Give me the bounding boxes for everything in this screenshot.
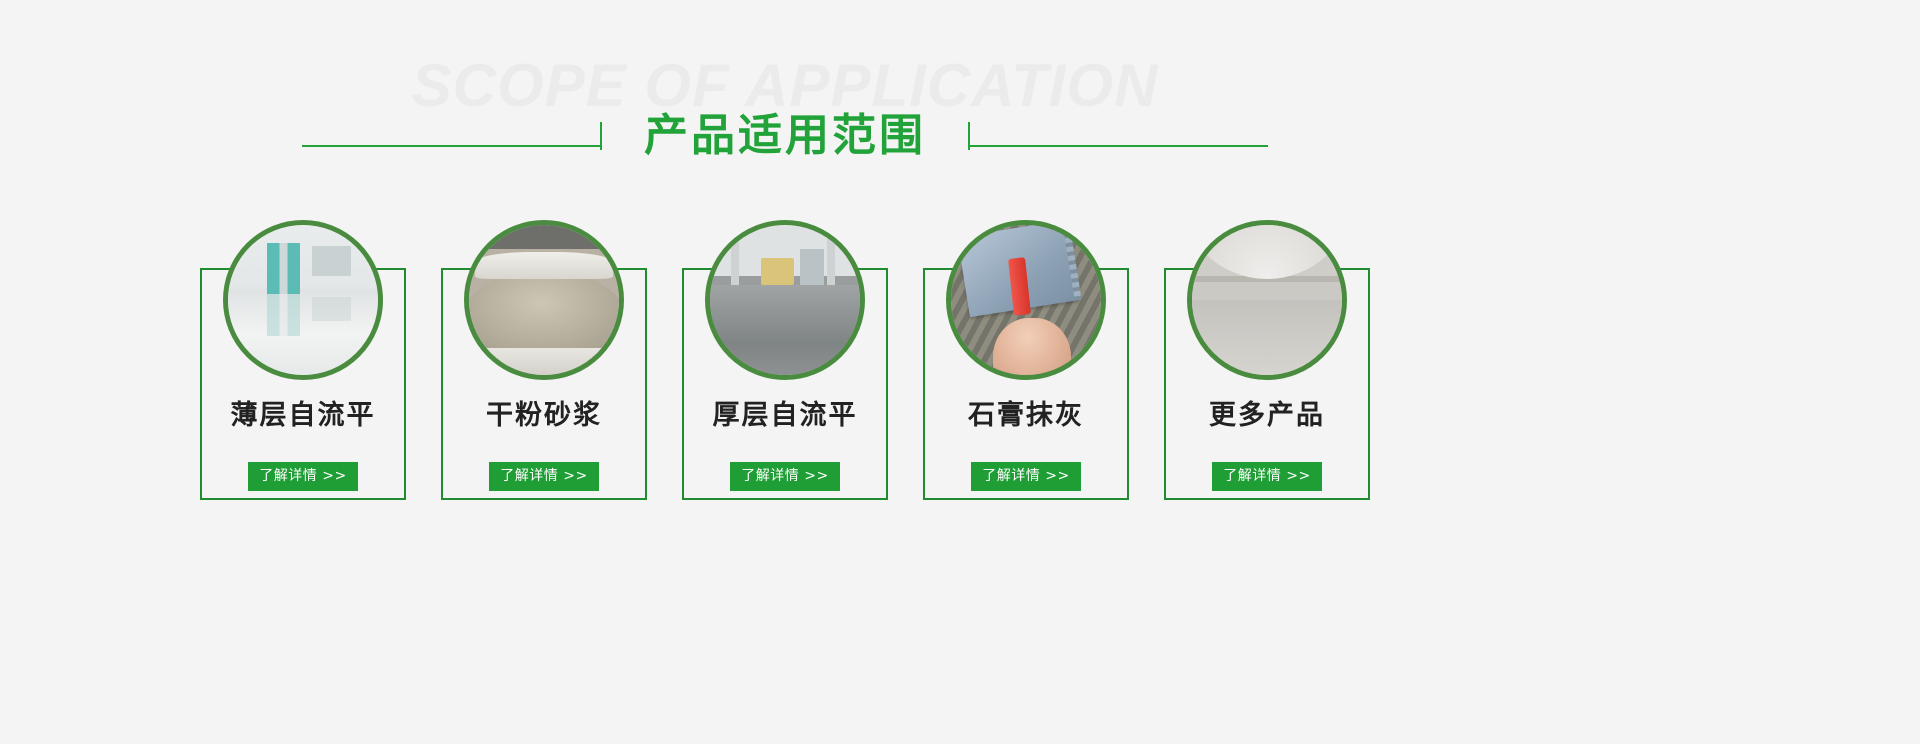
section-title-row: 产品适用范围	[0, 104, 1570, 168]
learn-more-button[interactable]: 了解详情 >>	[730, 462, 839, 491]
title-rule-right	[968, 122, 1268, 150]
thin-layer-self-levelling-floor-photo	[228, 225, 378, 375]
dry-mix-mortar-photo	[469, 225, 619, 375]
product-card-label: 更多产品	[1164, 402, 1370, 429]
product-image-circle[interactable]	[705, 220, 865, 380]
section-header: SCOPE OF APPLICATION 产品适用范围	[0, 0, 1920, 200]
title-rule-left	[302, 122, 602, 150]
product-card[interactable]: 薄层自流平 了解详情 >>	[200, 220, 406, 520]
card-button-wrap: 了解详情 >>	[923, 462, 1129, 491]
title-rule-right-line	[968, 145, 1268, 147]
gypsum-plastering-trowel-photo	[951, 225, 1101, 375]
product-card-label: 厚层自流平	[682, 402, 888, 429]
more-products-photo	[1192, 225, 1342, 375]
product-card[interactable]: 石膏抹灰 了解详情 >>	[923, 220, 1129, 520]
product-card[interactable]: 厚层自流平 了解详情 >>	[682, 220, 888, 520]
card-button-wrap: 了解详情 >>	[682, 462, 888, 491]
card-button-wrap: 了解详情 >>	[441, 462, 647, 491]
title-rule-left-tick	[600, 122, 602, 150]
product-image-circle[interactable]	[946, 220, 1106, 380]
card-frame-bottom-edge	[1164, 498, 1370, 500]
card-frame-bottom-edge	[441, 498, 647, 500]
title-rule-left-line	[302, 145, 602, 147]
page-title: 产品适用范围	[602, 114, 968, 158]
card-frame-bottom-edge	[923, 498, 1129, 500]
product-image-circle[interactable]	[223, 220, 383, 380]
learn-more-button[interactable]: 了解详情 >>	[971, 462, 1080, 491]
learn-more-button[interactable]: 了解详情 >>	[248, 462, 357, 491]
card-button-wrap: 了解详情 >>	[1164, 462, 1370, 491]
scope-of-application-section: SCOPE OF APPLICATION 产品适用范围	[0, 0, 1920, 744]
product-card-label: 石膏抹灰	[923, 402, 1129, 429]
thick-layer-self-levelling-floor-photo	[710, 225, 860, 375]
product-image-circle[interactable]	[1187, 220, 1347, 380]
learn-more-button[interactable]: 了解详情 >>	[489, 462, 598, 491]
card-frame-bottom-edge	[200, 498, 406, 500]
product-card-list: 薄层自流平 了解详情 >> 干粉砂浆 了解详情 >>	[200, 220, 1370, 520]
product-card[interactable]: 干粉砂浆 了解详情 >>	[441, 220, 647, 520]
product-card-label: 薄层自流平	[200, 402, 406, 429]
product-card-label: 干粉砂浆	[441, 402, 647, 429]
learn-more-button[interactable]: 了解详情 >>	[1212, 462, 1321, 491]
product-card[interactable]: 更多产品 了解详情 >>	[1164, 220, 1370, 520]
card-button-wrap: 了解详情 >>	[200, 462, 406, 491]
product-image-circle[interactable]	[464, 220, 624, 380]
card-frame-bottom-edge	[682, 498, 888, 500]
